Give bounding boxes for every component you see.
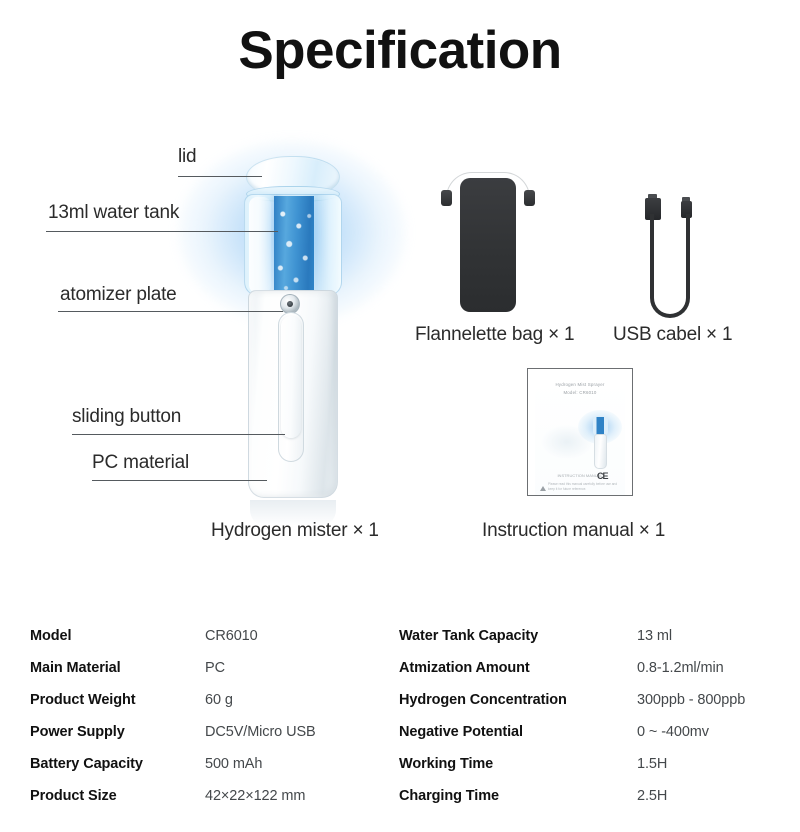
spec-value: 0 ~ -400mv xyxy=(637,716,709,748)
spec-key: Battery Capacity xyxy=(30,748,205,780)
water-bubbles xyxy=(274,196,314,296)
spec-key: Working Time xyxy=(399,748,637,780)
spec-row: Water Tank Capacity 13 ml xyxy=(399,620,789,652)
spec-row: Model CR6010 xyxy=(30,620,390,652)
spec-key: Product Size xyxy=(30,780,205,812)
hydrogen-mister-illustration xyxy=(236,150,348,510)
spec-value: 2.5H xyxy=(637,780,667,812)
manual-cover-product-image xyxy=(587,415,613,469)
spec-key: Power Supply xyxy=(30,716,205,748)
spec-row: Product Weight 60 g xyxy=(30,684,390,716)
manual-product-body xyxy=(594,434,607,469)
spec-table-right: Water Tank Capacity 13 ml Atmization Amo… xyxy=(399,620,789,812)
callout-line-lid xyxy=(178,176,262,177)
manual-cover-footer: INSTRUCTION MANUAL xyxy=(535,473,625,478)
device-water-tank xyxy=(244,194,342,296)
bag-toggle-right xyxy=(524,190,535,206)
spec-row: Working Time 1.5H xyxy=(399,748,789,780)
spec-value: 13 ml xyxy=(637,620,672,652)
tank-highlight xyxy=(249,197,271,293)
callout-line-pc-material xyxy=(92,480,267,481)
spec-row: Main Material PC xyxy=(30,652,390,684)
spec-row: Atmization Amount 0.8-1.2ml/min xyxy=(399,652,789,684)
instruction-manual-illustration: Hydrogen Mist Sprayer Model: CR6010 INST… xyxy=(527,368,633,496)
spec-key: Water Tank Capacity xyxy=(399,620,637,652)
spec-table-left: Model CR6010 Main Material PC Product We… xyxy=(30,620,390,812)
spec-value: 500 mAh xyxy=(205,748,262,780)
callout-label-atomizer-plate: atomizer plate xyxy=(60,284,177,306)
spec-key: Product Weight xyxy=(30,684,205,716)
caption-instruction-manual: Instruction manual × 1 xyxy=(482,520,665,542)
callout-label-sliding-button: sliding button xyxy=(72,406,181,428)
sliding-button-knob xyxy=(281,316,301,438)
callout-label-pc-material: PC material xyxy=(92,452,189,474)
spec-key: Model xyxy=(30,620,205,652)
spec-value: CR6010 xyxy=(205,620,258,652)
manual-cover-warning: Please read this manual carefully before… xyxy=(540,482,620,492)
spec-key: Atmization Amount xyxy=(399,652,637,684)
caption-usb-cable: USB cabel × 1 xyxy=(613,324,732,346)
spec-key: Charging Time xyxy=(399,780,637,812)
manual-cover: Hydrogen Mist Sprayer Model: CR6010 INST… xyxy=(535,381,625,495)
spec-value: DC5V/Micro USB xyxy=(205,716,316,748)
spec-row: Hydrogen Concentration 300ppb - 800ppb xyxy=(399,684,789,716)
spec-row: Negative Potential 0 ~ -400mv xyxy=(399,716,789,748)
spec-value: 0.8-1.2ml/min xyxy=(637,652,724,684)
spec-value: 300ppb - 800ppb xyxy=(637,684,745,716)
spec-value: 42×22×122 mm xyxy=(205,780,305,812)
manual-product-tank xyxy=(593,417,608,435)
spec-row: Charging Time 2.5H xyxy=(399,780,789,812)
ce-mark-icon: CE xyxy=(597,471,608,481)
bag-toggle-left xyxy=(441,190,452,206)
spec-key: Main Material xyxy=(30,652,205,684)
callout-line-atomizer-plate xyxy=(58,311,283,312)
caption-flannelette-bag: Flannelette bag × 1 xyxy=(415,324,574,346)
spec-key: Negative Potential xyxy=(399,716,637,748)
spec-value: 60 g xyxy=(205,684,233,716)
spec-value: PC xyxy=(205,652,225,684)
cable-loop xyxy=(650,214,690,318)
page-title: Specification xyxy=(0,24,800,77)
spec-row: Product Size 42×22×122 mm xyxy=(30,780,390,812)
callout-label-lid: lid xyxy=(178,146,196,168)
spec-row: Power Supply DC5V/Micro USB xyxy=(30,716,390,748)
bag-body xyxy=(460,178,516,312)
manual-cover-title-line2: Model: CR6010 xyxy=(535,389,625,396)
spec-value: 1.5H xyxy=(637,748,667,780)
atomizer-plate-nozzle xyxy=(280,294,300,314)
manual-cover-title-line1: Hydrogen Mist Sprayer xyxy=(535,381,625,388)
spec-key: Hydrogen Concentration xyxy=(399,684,637,716)
callout-label-water-tank: 13ml water tank xyxy=(48,202,179,224)
callout-line-water-tank xyxy=(46,231,278,232)
callout-line-sliding-button xyxy=(72,434,285,435)
caption-hydrogen-mister: Hydrogen mister × 1 xyxy=(211,520,379,542)
spec-row: Battery Capacity 500 mAh xyxy=(30,748,390,780)
